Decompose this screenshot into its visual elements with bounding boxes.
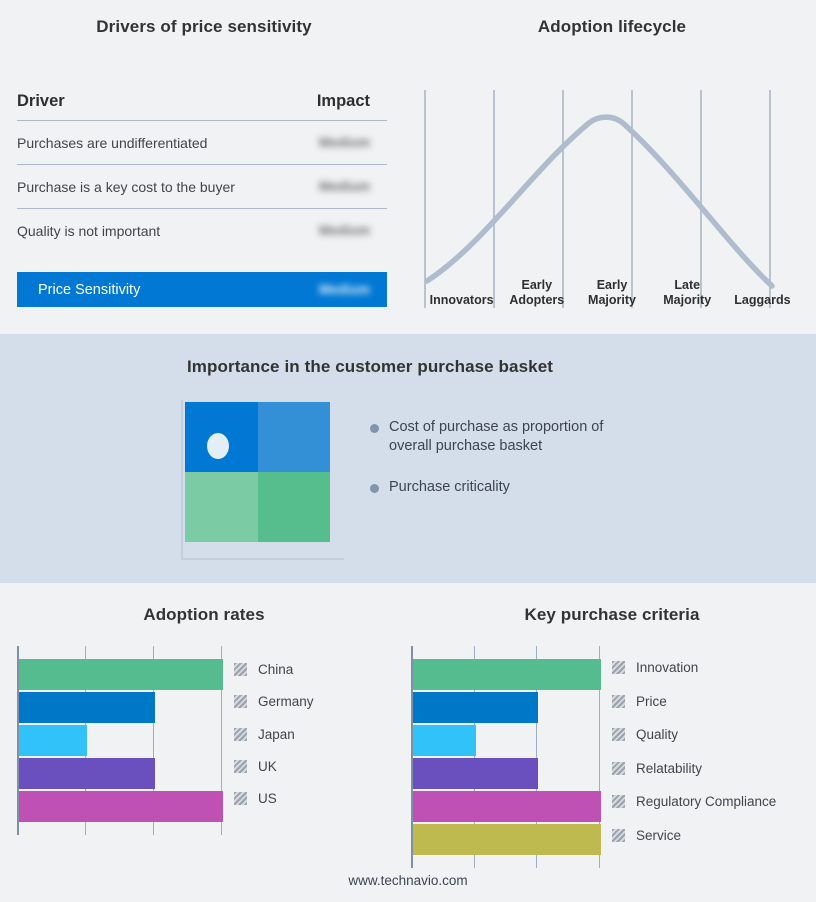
legend-item-china[interactable]: China: [234, 662, 293, 677]
driver-label: Purchases are undifferentiated: [17, 135, 207, 151]
legend-label: Service: [636, 828, 681, 843]
adoption-rates-title: Adoption rates: [0, 605, 408, 625]
column-header-impact: Impact: [317, 92, 370, 111]
bar-uk[interactable]: [19, 758, 155, 789]
bar-service[interactable]: [413, 824, 601, 855]
legend-label: Germany: [258, 694, 314, 709]
table-row: Quality is not important Medium: [17, 209, 387, 252]
legend-item-cost-of-purchase: Cost of purchase as proportion of overal…: [370, 418, 670, 456]
bar-germany[interactable]: [19, 692, 155, 723]
basket-title: Importance in the customer purchase bask…: [0, 357, 740, 377]
lifecycle-bell-curve: [427, 117, 772, 286]
table-row: Purchase is a key cost to the buyer Medi…: [17, 165, 387, 208]
bar-us[interactable]: [19, 791, 223, 822]
lifecycle-stage-labels: Innovators EarlyAdopters EarlyMajority L…: [424, 270, 800, 310]
lifecycle-title: Adoption lifecycle: [408, 17, 816, 37]
legend-item-innovation[interactable]: Innovation: [612, 660, 698, 675]
legend-item-service[interactable]: Service: [612, 828, 681, 843]
quadrant-bottom-right: [258, 472, 331, 542]
column-header-driver: Driver: [17, 92, 65, 111]
legend-item-germany[interactable]: Germany: [234, 694, 314, 709]
quadrant-chart: [185, 402, 330, 542]
footer-url: www.technavio.com: [0, 873, 816, 888]
adoption-rates-panel: Adoption rates ChinaGermanyJapanUKUS: [0, 583, 408, 902]
legend-label: Innovation: [636, 660, 698, 675]
legend-label: Japan: [258, 727, 295, 742]
quadrant-bottom-left: [185, 472, 258, 542]
quadrant-top-right: [258, 402, 331, 472]
legend-label: Cost of purchase as proportion of overal…: [389, 418, 641, 456]
driver-label: Quality is not important: [17, 223, 160, 239]
bar-innovation[interactable]: [413, 659, 601, 690]
price-sensitivity-summary-row: Price Sensitivity Medium: [17, 272, 387, 307]
hatched-square-icon: [234, 695, 247, 708]
bullet-icon: [370, 484, 379, 493]
legend-item-purchase-criticality: Purchase criticality: [370, 478, 670, 497]
legend-label: UK: [258, 759, 277, 774]
legend-item-uk[interactable]: UK: [234, 759, 277, 774]
key-criteria-title: Key purchase criteria: [408, 605, 816, 625]
key-criteria-chart: [411, 646, 599, 868]
key-criteria-panel: Key purchase criteria InnovationPriceQua…: [408, 583, 816, 902]
hatched-square-icon: [234, 792, 247, 805]
lifecycle-stage-early-adopters: EarlyAdopters: [499, 278, 574, 310]
hatched-square-icon: [612, 695, 625, 708]
bar-quality[interactable]: [413, 725, 476, 756]
lifecycle-stage-early-majority: EarlyMajority: [574, 278, 649, 310]
driver-label: Purchase is a key cost to the buyer: [17, 179, 235, 195]
drivers-title: Drivers of price sensitivity: [0, 17, 408, 37]
legend-label: Price: [636, 694, 667, 709]
legend-item-us[interactable]: US: [234, 791, 277, 806]
hatched-square-icon: [612, 762, 625, 775]
drivers-table-header: Driver Impact: [17, 92, 387, 120]
summary-impact-value: Medium: [319, 282, 370, 297]
impact-value: Medium: [319, 135, 370, 150]
drivers-panel: Drivers of price sensitivity Driver Impa…: [0, 0, 408, 334]
bar-price[interactable]: [413, 692, 538, 723]
bar-japan[interactable]: [19, 725, 87, 756]
hatched-square-icon: [234, 760, 247, 773]
adoption-lifecycle-panel: Adoption lifecycle Innovators EarlyAdopt…: [408, 0, 816, 334]
legend-item-price[interactable]: Price: [612, 694, 667, 709]
lifecycle-stage-laggards: Laggards: [725, 293, 800, 311]
lifecycle-stage-late-majority: LateMajority: [650, 278, 725, 310]
lifecycle-stage-innovators: Innovators: [424, 293, 499, 311]
impact-value: Medium: [319, 179, 370, 194]
legend-label: US: [258, 791, 277, 806]
legend-item-japan[interactable]: Japan: [234, 727, 295, 742]
hatched-square-icon: [234, 663, 247, 676]
legend-label: Quality: [636, 727, 678, 742]
legend-label: Relatability: [636, 761, 702, 776]
hatched-square-icon: [612, 829, 625, 842]
adoption-rates-chart: [17, 646, 221, 835]
basket-legend: Cost of purchase as proportion of overal…: [370, 418, 670, 519]
bullet-icon: [370, 424, 379, 433]
bar-regulatory-compliance[interactable]: [413, 791, 601, 822]
table-row: Purchases are undifferentiated Medium: [17, 121, 387, 164]
legend-item-quality[interactable]: Quality: [612, 727, 678, 742]
quadrant-marker-dot: [207, 433, 229, 459]
legend-label: Purchase criticality: [389, 478, 510, 497]
legend-item-relatability[interactable]: Relatability: [612, 761, 702, 776]
hatched-square-icon: [234, 728, 247, 741]
legend-label: Regulatory Compliance: [636, 794, 776, 809]
drivers-table: Driver Impact Purchases are undifferenti…: [17, 92, 387, 252]
bar-china[interactable]: [19, 659, 223, 690]
hatched-square-icon: [612, 795, 625, 808]
hatched-square-icon: [612, 728, 625, 741]
impact-value: Medium: [319, 223, 370, 238]
quadrant-x-axis: [181, 558, 344, 560]
summary-label: Price Sensitivity: [38, 282, 140, 298]
legend-label: China: [258, 662, 293, 677]
hatched-square-icon: [612, 661, 625, 674]
quadrant-y-axis: [181, 400, 183, 560]
quadrant-top-left: [185, 402, 258, 472]
legend-item-regulatory-compliance[interactable]: Regulatory Compliance: [612, 794, 776, 809]
bar-relatability[interactable]: [413, 758, 538, 789]
